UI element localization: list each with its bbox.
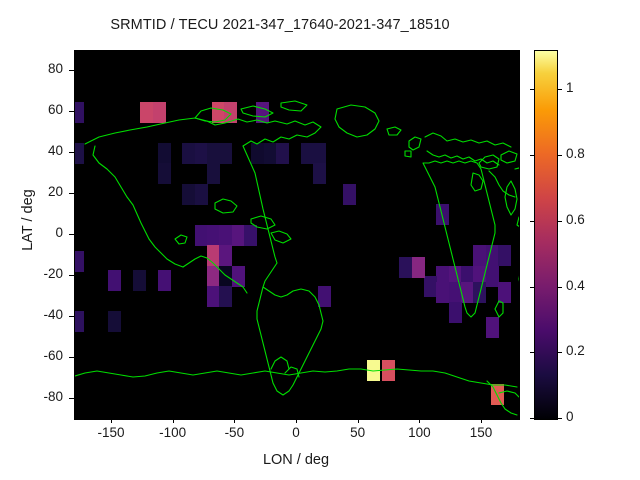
x-tick-label: 150 [451,425,511,440]
colorbar-tick [557,418,562,419]
colorbar-tick-inner [530,89,535,90]
x-axis-label: LON / deg [74,452,518,468]
colorbar-tick-inner [530,155,535,156]
colorbar-tick-label: 0 [566,409,574,424]
colorbar-tick-label: 1 [566,80,574,95]
y-tick [69,316,74,317]
x-tick-label: 100 [389,425,449,440]
y-tick-label: -60 [6,348,63,363]
colorbar-tick [557,221,562,222]
y-tick [69,357,74,358]
x-tick-label: 50 [328,425,388,440]
y-tick-label: 60 [6,102,63,117]
page-title: SRMTID / TECU 2021-347_17640-2021-347_18… [0,17,560,33]
y-tick-label: -40 [6,307,63,322]
map-plot-area[interactable] [74,50,520,420]
coastline-map [75,51,519,419]
x-tick-label: -50 [204,425,264,440]
colorbar-tick-label: 0.4 [566,278,585,293]
colorbar-tick-inner [530,221,535,222]
y-tick [69,398,74,399]
colorbar-tick [557,155,562,156]
x-tick-label: -150 [81,425,141,440]
x-tick-label: 0 [266,425,326,440]
colorbar-tick-inner [530,418,535,419]
colorbar-tick-label: 0.6 [566,212,585,227]
chart-figure: SRMTID / TECU 2021-347_17640-2021-347_18… [0,0,640,480]
y-tick [69,193,74,194]
colorbar-tick [557,352,562,353]
y-tick [69,111,74,112]
colorbar-tick-inner [530,352,535,353]
y-tick [69,234,74,235]
y-axis-label: LAT / deg [20,140,36,300]
colorbar-tick [557,287,562,288]
colorbar-tick [557,89,562,90]
y-tick-label: -80 [6,389,63,404]
colorbar-tick-inner [530,287,535,288]
x-tick-label: -100 [143,425,203,440]
y-tick [69,70,74,71]
colorbar-tick-label: 0.2 [566,343,585,358]
y-tick-label: 80 [6,61,63,76]
y-tick [69,275,74,276]
colorbar-tick-label: 0.8 [566,146,585,161]
colorbar [534,50,558,420]
y-tick [69,152,74,153]
